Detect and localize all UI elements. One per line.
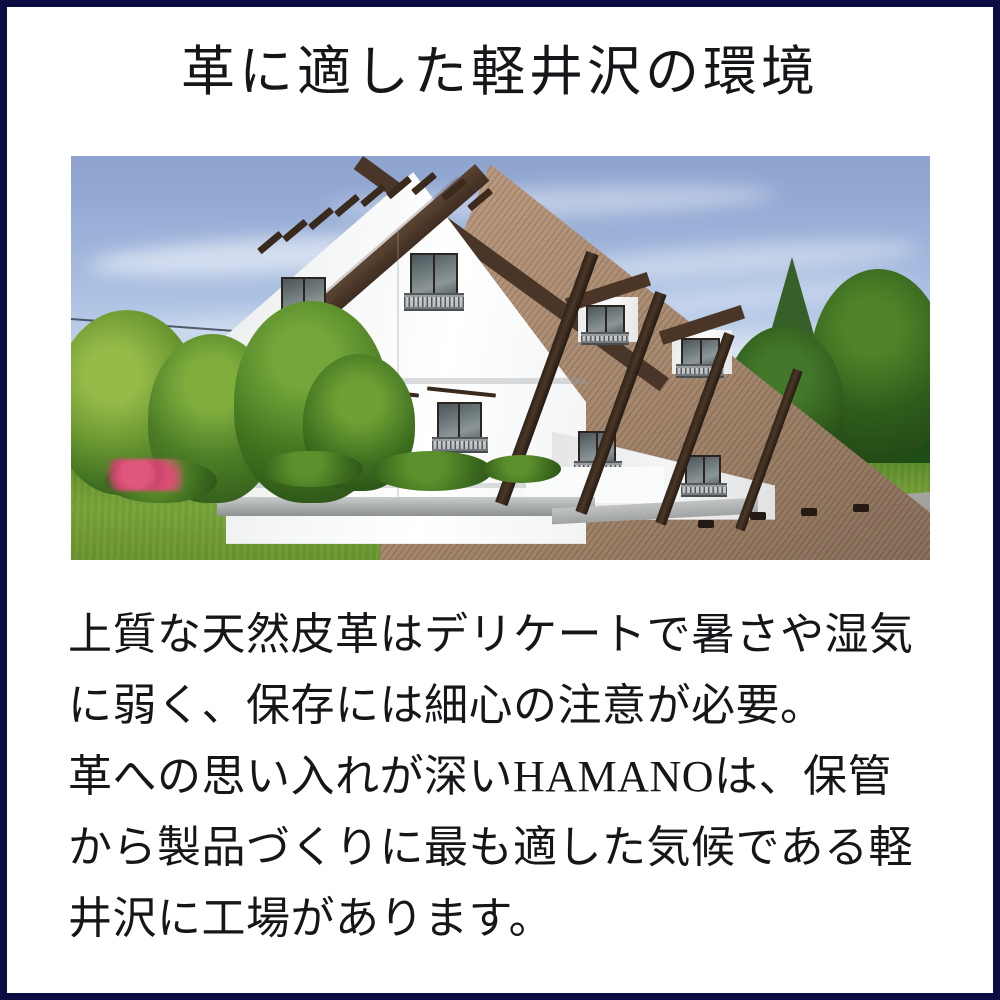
strut-foot: [853, 504, 869, 512]
flower-bed: [105, 459, 182, 491]
timber-bracket: [308, 206, 334, 229]
window: [410, 253, 458, 297]
shrub: [483, 455, 560, 483]
timber-bracket: [334, 194, 360, 217]
strut-foot: [750, 512, 766, 520]
strut-foot: [801, 508, 817, 516]
page-title: 革に適した軽井沢の環境: [7, 35, 993, 109]
foundation: [217, 497, 595, 515]
strut-foot: [698, 520, 714, 528]
window: [586, 305, 625, 333]
balcony-railing: [404, 293, 464, 311]
promo-page: 革に適した軽井沢の環境: [0, 0, 1000, 1000]
shrub: [372, 451, 492, 491]
balcony-railing: [681, 483, 727, 497]
timber-bracket: [257, 231, 283, 254]
timber-bracket: [283, 218, 309, 241]
balcony-railing: [581, 332, 629, 346]
factory-photo: [71, 156, 930, 560]
body-paragraph: 上質な天然皮革はデリケートで暑さや湿気 に弱く、保存には細心の注意が必要。 革へ…: [68, 599, 948, 954]
shrub: [260, 451, 363, 487]
photo-canvas: [71, 156, 930, 560]
